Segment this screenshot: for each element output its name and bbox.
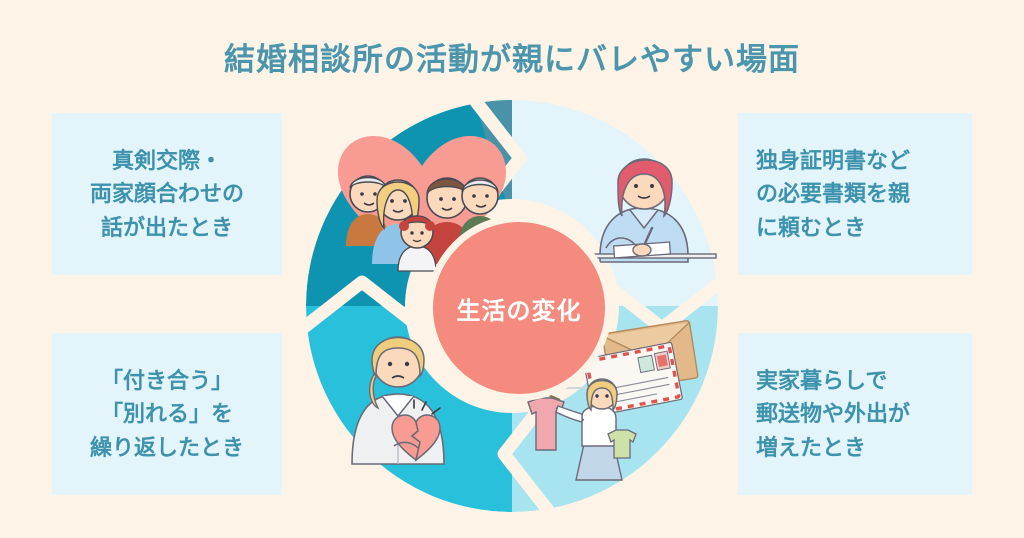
callout-line: の必要書類を親 bbox=[756, 177, 910, 210]
callout-line: 「付き合う」 bbox=[101, 364, 233, 397]
callout-line: 話が出たとき bbox=[101, 211, 233, 244]
shopper-figure bbox=[556, 379, 636, 480]
callout-line: 増えたとき bbox=[756, 431, 866, 464]
callout-line: 繰り返したとき bbox=[90, 431, 244, 464]
callout-line: 真剣交際・ bbox=[112, 144, 222, 177]
callout-line: 実家暮らしで bbox=[756, 364, 887, 397]
callout-box-bottom-right[interactable]: 実家暮らしで 郵送物や外出が 増えたとき bbox=[738, 333, 972, 495]
callout-line: に頼むとき bbox=[756, 211, 866, 244]
infographic-canvas: 結婚相談所の活動が親にバレやすい場面 bbox=[0, 0, 1024, 538]
center-hub-label: 生活の変化 bbox=[457, 291, 582, 326]
callout-line: 両家顔合わせの bbox=[90, 177, 244, 210]
callout-box-top-left[interactable]: 真剣交際・ 両家顔合わせの 話が出たとき bbox=[52, 113, 282, 275]
callout-line: 独身証明書など bbox=[756, 144, 910, 177]
callout-line: 郵送物や外出が bbox=[756, 397, 910, 430]
stamp-icon bbox=[638, 355, 655, 372]
center-hub: 生活の変化 bbox=[426, 215, 612, 401]
callout-box-top-right[interactable]: 独身証明書など の必要書類を親 に頼むとき bbox=[738, 113, 972, 275]
page-title: 結婚相談所の活動が親にバレやすい場面 bbox=[0, 34, 1024, 79]
callout-line: 「別れる」を bbox=[101, 397, 233, 430]
callout-box-bottom-left[interactable]: 「付き合う」 「別れる」を 繰り返したとき bbox=[52, 333, 282, 495]
